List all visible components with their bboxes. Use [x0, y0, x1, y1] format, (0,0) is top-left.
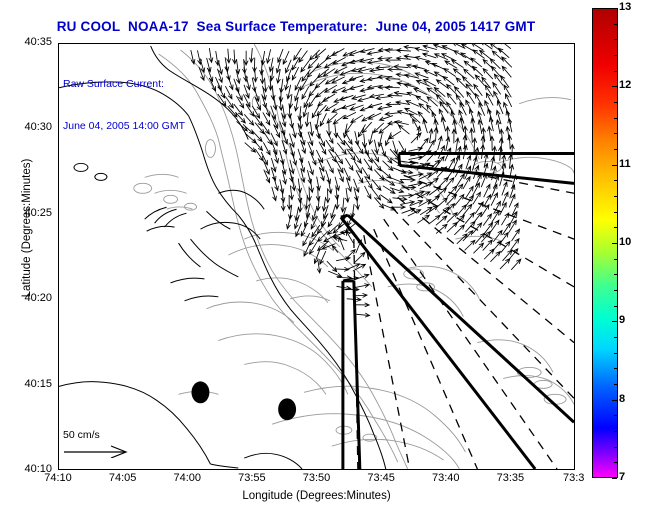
current-vector: [418, 112, 427, 123]
current-vector: [334, 67, 347, 73]
current-vector: [345, 188, 349, 202]
current-vector: [245, 143, 255, 152]
current-vector: [355, 284, 369, 288]
current-vector: [475, 75, 484, 85]
current-vector: [502, 57, 512, 67]
current-vector: [401, 178, 415, 182]
current-vector: [416, 96, 428, 103]
current-vector: [500, 259, 510, 269]
current-vector: [325, 104, 337, 111]
colorbar-minor-tick: [614, 290, 617, 291]
current-vector: [454, 51, 466, 58]
current-vector: [393, 141, 398, 154]
current-vector: [474, 243, 484, 253]
current-vector: [310, 122, 314, 136]
current-vector: [381, 169, 392, 178]
current-vector: [255, 149, 263, 161]
current-vector: [309, 95, 317, 107]
scale-legend-arrow: [63, 444, 183, 463]
colorbar-minor-tick: [614, 149, 617, 150]
x-tick-label: 74:05: [93, 472, 153, 484]
current-vector: [398, 110, 411, 114]
current-vector: [376, 96, 390, 100]
scale-legend-label: 50 cm/s: [63, 429, 183, 441]
current-vector: [260, 70, 264, 84]
current-vector: [465, 240, 475, 250]
figure-title: RU COOL NOAA-17 Sea Surface Temperature:…: [0, 19, 592, 34]
current-vector: [502, 192, 508, 205]
current-vector: [442, 46, 455, 52]
current-vector: [372, 180, 381, 191]
current-vector: [447, 222, 457, 231]
current-vector: [499, 138, 503, 152]
y-axis-label: Latitude (Degrees:Minutes): [21, 118, 33, 338]
current-vector: [494, 91, 501, 103]
current-vector: [329, 271, 342, 276]
colorbar-tick-label: 10: [619, 236, 631, 248]
current-vector: [394, 91, 408, 95]
colorbar-minor-tick: [614, 306, 617, 307]
current-vector-layer: [191, 44, 521, 317]
current-vector: [432, 63, 445, 69]
current-vector: [346, 158, 353, 170]
colorbar-minor-tick: [614, 447, 617, 448]
current-vector: [447, 213, 457, 223]
colorbar-tick-label: 12: [619, 79, 631, 91]
current-vector: [457, 205, 466, 216]
current-vector: [244, 51, 248, 65]
current-vector: [464, 69, 474, 78]
current-vector: [503, 250, 512, 260]
colorbar-minor-tick: [614, 431, 617, 432]
current-vector: [283, 51, 289, 64]
current-vector: [253, 140, 262, 151]
colorbar-minor-tick: [614, 71, 617, 72]
current-vector: [496, 120, 500, 134]
current-vector: [299, 51, 307, 62]
current-vector: [254, 115, 262, 126]
current-vector: [309, 161, 314, 174]
current-vector: [502, 66, 511, 77]
current-vector: [420, 138, 429, 149]
annotation-line-1: Raw Surface Current:: [63, 77, 185, 91]
current-vector: [410, 114, 420, 123]
current-vector: [292, 177, 296, 191]
current-vector: [218, 69, 223, 82]
current-vector: [389, 131, 401, 139]
current-vector: [298, 106, 302, 120]
current-vector: [290, 114, 294, 128]
current-vector: [463, 231, 473, 241]
current-vector: [304, 243, 310, 256]
current-vector: [415, 47, 429, 51]
colorbar-minor-tick: [614, 8, 617, 9]
station-marker: [278, 398, 296, 420]
colorbar-minor-tick: [614, 227, 617, 228]
current-vector: [502, 213, 509, 225]
current-vector: [361, 49, 374, 53]
current-vector: [386, 133, 392, 146]
current-vector: [484, 184, 490, 197]
current-vector: [473, 192, 480, 204]
current-vector: [317, 259, 321, 273]
current-vector: [264, 143, 271, 155]
current-vector: [413, 65, 426, 70]
x-axis-label: Longitude (Degrees:Minutes): [58, 490, 575, 502]
current-vector: [349, 76, 362, 81]
current-vector: [453, 120, 457, 134]
current-vector: [309, 86, 318, 97]
current-vector: [452, 129, 456, 143]
colorbar-minor-tick: [614, 243, 617, 244]
colorbar-minor-tick: [614, 180, 617, 181]
current-vector: [272, 187, 276, 200]
current-vector: [365, 186, 371, 198]
current-vector: [481, 145, 485, 159]
x-tick-label: 73:45: [351, 472, 411, 484]
current-vector: [471, 58, 482, 67]
current-vector: [341, 198, 345, 212]
current-vector: [436, 156, 444, 167]
current-vector: [227, 49, 231, 63]
current-vector: [301, 61, 309, 72]
current-vector: [398, 125, 409, 134]
current-vector: [503, 223, 511, 235]
current-vector: [481, 174, 486, 187]
current-vector: [292, 124, 296, 138]
current-vector: [411, 133, 421, 143]
annotation-line-2: June 04, 2005 14:00 GMT: [63, 119, 185, 133]
current-vector: [388, 68, 402, 72]
current-vector: [396, 73, 410, 77]
current-vector: [372, 189, 380, 200]
current-vector: [323, 94, 335, 101]
current-vector: [470, 128, 474, 142]
current-vector: [367, 51, 381, 55]
colorbar-tick-label: 7: [619, 471, 625, 483]
colorbar-minor-tick: [614, 39, 617, 40]
colorbar-tick-label: 13: [619, 1, 631, 13]
y-tick-label: 40:10: [4, 463, 52, 475]
figure-canvas: RU COOL NOAA-17 Sea Surface Temperature:…: [0, 0, 651, 515]
colorbar-minor-tick: [614, 337, 617, 338]
current-vector: [353, 264, 365, 271]
current-vector: [394, 65, 408, 69]
colorbar-minor-tick: [614, 196, 617, 197]
current-annotation: Raw Surface Current: June 04, 2005 14:00…: [63, 49, 185, 161]
current-vector: [340, 95, 353, 100]
current-vector: [320, 114, 326, 126]
current-vector: [454, 87, 463, 98]
current-vector: [483, 240, 492, 250]
current-vector: [408, 182, 422, 186]
colorbar-minor-tick: [614, 55, 617, 56]
current-vector: [455, 138, 459, 152]
current-vector: [250, 48, 254, 62]
current-vector: [466, 221, 475, 231]
current-vector: [363, 134, 367, 148]
current-vector: [454, 155, 460, 168]
current-vector: [373, 160, 381, 171]
current-vector: [406, 101, 419, 107]
current-vector: [233, 50, 237, 64]
current-vector: [332, 246, 337, 253]
current-vector: [355, 303, 369, 307]
y-tick-label: 40:35: [4, 36, 52, 48]
current-vector: [501, 242, 510, 253]
current-vector: [246, 76, 250, 90]
current-vector: [216, 77, 222, 90]
current-vector: [434, 128, 438, 142]
current-vector: [423, 119, 427, 132]
colorbar-tick-label: 9: [619, 314, 625, 326]
current-vector: [378, 106, 392, 110]
current-vector: [264, 133, 271, 145]
current-vector: [388, 94, 402, 98]
current-vector: [358, 97, 371, 101]
right-arrow-icon: [63, 444, 133, 458]
colorbar-minor-tick: [614, 259, 617, 260]
current-vector: [489, 117, 493, 131]
colorbar-minor-tick: [614, 165, 617, 166]
current-vector: [446, 137, 450, 151]
current-vector: [355, 252, 365, 262]
colorbar-minor-tick: [614, 400, 617, 401]
current-vector: [498, 48, 508, 57]
current-vector: [465, 213, 474, 224]
current-vector: [237, 96, 244, 108]
current-vector: [274, 177, 279, 190]
current-vector: [264, 103, 269, 116]
station-marker: [191, 381, 209, 403]
colorbar-minor-tick: [614, 212, 617, 213]
current-vector: [352, 95, 365, 99]
current-vector: [336, 257, 350, 261]
current-vector: [463, 145, 467, 159]
current-vector: [339, 237, 344, 250]
current-vector: [436, 224, 447, 233]
current-vector: [500, 44, 511, 49]
colorbar-minor-tick: [614, 384, 617, 385]
current-vector: [369, 131, 373, 145]
current-vector: [385, 112, 399, 116]
scale-legend: 50 cm/s: [63, 429, 183, 463]
current-vector: [351, 115, 363, 122]
current-vector: [254, 88, 259, 101]
colorbar-tick-label: 11: [619, 158, 631, 170]
current-vector: [287, 215, 291, 228]
current-vector: [326, 170, 331, 183]
current-vector: [455, 195, 464, 206]
x-tick-label: 73:55: [222, 472, 282, 484]
current-vector: [472, 66, 482, 76]
x-tick-label: 74:00: [157, 472, 217, 484]
current-vector: [343, 112, 355, 118]
current-vector: [228, 76, 233, 89]
current-vector: [480, 50, 491, 59]
current-vector: [234, 79, 239, 92]
current-vector: [253, 131, 262, 141]
current-vector: [282, 113, 286, 126]
current-vector: [508, 118, 512, 132]
current-vector: [362, 168, 370, 180]
current-vector: [491, 252, 501, 262]
current-vector: [191, 50, 195, 64]
current-vector: [461, 53, 473, 61]
current-vector: [492, 51, 502, 60]
current-vector: [484, 195, 491, 207]
current-vector: [447, 93, 456, 104]
x-tick-label: 73:40: [416, 472, 476, 484]
current-vector: [356, 142, 363, 154]
current-vector: [349, 51, 362, 56]
map-plot-area[interactable]: Raw Surface Current: June 04, 2005 14:00…: [58, 43, 575, 470]
current-vector: [308, 187, 312, 201]
colorbar-minor-tick: [614, 118, 617, 119]
colorbar-minor-tick: [614, 415, 617, 416]
current-vector: [429, 129, 433, 143]
station-marker-layer: [191, 381, 296, 420]
current-vector: [471, 44, 483, 50]
colorbar-tick-label: 8: [619, 393, 625, 405]
current-vector: [319, 134, 325, 147]
colorbar-minor-tick: [614, 368, 617, 369]
current-vector: [381, 195, 392, 203]
current-vector: [435, 54, 448, 60]
current-vector: [327, 261, 337, 271]
current-vector: [332, 49, 344, 56]
current-vector: [350, 85, 363, 89]
current-vector: [356, 313, 370, 317]
current-vector: [475, 233, 484, 243]
current-vector: [500, 203, 506, 215]
colorbar-minor-tick: [614, 133, 617, 134]
current-vector: [481, 44, 492, 49]
current-vector: [463, 177, 470, 189]
current-vector: [333, 115, 344, 123]
current-vector: [416, 56, 429, 60]
current-vector: [483, 69, 492, 79]
colorbar-minor-tick: [614, 274, 617, 275]
current-vector: [484, 249, 494, 259]
x-tick-label: 73:50: [287, 472, 347, 484]
current-vector: [332, 77, 345, 83]
current-vector: [399, 170, 413, 174]
x-tick-label: 73:35: [480, 472, 540, 484]
current-vector: [511, 259, 520, 269]
current-vector: [490, 136, 494, 150]
current-vector: [441, 117, 445, 131]
current-vector: [437, 198, 448, 207]
y-tick-label: 40:15: [4, 378, 52, 390]
current-vector: [370, 69, 384, 73]
current-vector: [333, 232, 346, 237]
current-vector: [340, 70, 353, 75]
current-vector: [442, 54, 454, 60]
current-vector: [322, 197, 326, 211]
current-vector: [334, 124, 338, 138]
current-vector: [317, 177, 321, 191]
current-vector: [323, 69, 335, 77]
current-vector: [383, 186, 395, 193]
current-vector: [356, 274, 369, 279]
current-vector: [316, 88, 327, 97]
colorbar-minor-tick: [614, 462, 617, 463]
current-vector: [379, 116, 392, 121]
current-vector: [327, 160, 333, 173]
current-vector: [327, 131, 333, 143]
colorbar-minor-tick: [614, 321, 617, 322]
colorbar-minor-tick: [614, 353, 617, 354]
current-vector: [266, 50, 270, 64]
current-vector: [209, 48, 213, 62]
colorbar-minor-tick: [614, 102, 617, 103]
colorbar-minor-tick: [614, 478, 617, 479]
current-vector: [368, 103, 381, 107]
colorbar-minor-tick: [614, 24, 617, 25]
current-vector: [413, 119, 420, 131]
current-vector: [443, 76, 454, 85]
colorbar-minor-tick: [614, 86, 617, 87]
